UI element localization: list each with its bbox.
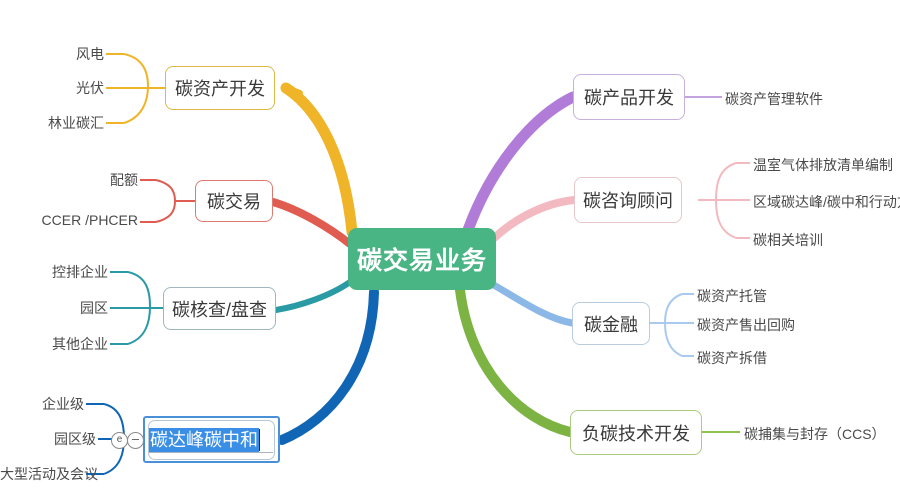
leaf-linye-tanhui[interactable]: 林业碳汇: [16, 113, 104, 133]
branch-box-carbon-trading[interactable]: 碳交易: [195, 180, 273, 222]
collapse-node-icon[interactable]: [127, 432, 144, 449]
branch-box-carbon-finance[interactable]: 碳金融: [572, 302, 650, 345]
leaf-tanzichan-chaijie[interactable]: 碳资产拆借: [697, 348, 767, 368]
branch-box-carbon-consulting[interactable]: 碳咨询顾问: [574, 177, 682, 223]
branch-label-carbon-consulting: 碳咨询顾问: [583, 187, 673, 213]
wire-negative-carbon-tech: [460, 290, 570, 432]
bracket-carbon-trading: [156, 180, 175, 222]
leaf-label-tan-bujie-fengcun: 碳捕集与封存（CCS）: [744, 426, 886, 442]
branch-label-carbon-verification: 碳核查/盘查: [172, 296, 267, 322]
leaf-qita-qiye[interactable]: 其他企业: [30, 334, 108, 354]
leaf-label-quyu-tandafeng: 区域碳达峰/碳中和行动方案: [753, 194, 900, 210]
leaf-yuanqu[interactable]: 园区: [30, 298, 108, 318]
leaf-label-peie: 配额: [110, 172, 138, 188]
leaf-guangfu[interactable]: 光伏: [26, 78, 104, 98]
leaf-label-wenshi-qiti: 温室气体排放清单编制: [753, 157, 893, 173]
wire-carbon-product-development: [468, 97, 573, 230]
wire-carbon-asset-development: [286, 88, 352, 232]
leaf-label-linye-tanhui: 林业碳汇: [48, 115, 104, 131]
leaf-qiye-ji[interactable]: 企业级: [6, 394, 84, 414]
bracket-carbon-verification: [128, 272, 150, 344]
leaf-label-guangfu: 光伏: [76, 80, 104, 96]
wire-carbon-consulting: [492, 200, 574, 240]
leaf-tan-bujie-fengcun[interactable]: 碳捕集与封存（CCS）: [744, 424, 886, 444]
branch-box-carbon-peak-neutrality[interactable]: 碳达峰碳中和: [143, 416, 280, 463]
minus-glyph: [132, 439, 139, 440]
branch-box-carbon-asset-development[interactable]: 碳资产开发: [165, 66, 275, 110]
branch-label-carbon-finance: 碳金融: [584, 311, 638, 337]
leaf-fengdian[interactable]: 风电: [26, 44, 104, 64]
branch-label-carbon-trading: 碳交易: [207, 188, 261, 214]
leaf-label-tanzichan-shouchu: 碳资产售出回购: [697, 317, 795, 333]
leaf-kongpai-qiye[interactable]: 控排企业: [30, 262, 108, 282]
leaf-peie[interactable]: 配额: [60, 170, 138, 190]
node-text-input[interactable]: 碳达峰碳中和: [149, 428, 273, 453]
branch-box-negative-carbon-tech[interactable]: 负碳技术开发: [570, 410, 702, 455]
mindmap-canvas: 碳交易业务 碳资产开发 风电 光伏 林业碳汇 碳交易 配额 CCER /PHCE…: [0, 0, 900, 489]
leaf-label-ccer-phcer: CCER /PHCER: [42, 212, 138, 228]
branch-label-negative-carbon-tech: 负碳技术开发: [582, 420, 690, 446]
bracket-carbon-finance: [665, 294, 682, 356]
bracket-carbon-consulting: [716, 163, 736, 238]
wire-carbon-peak-neutrality: [282, 292, 374, 440]
leaf-label-tan-peixun: 碳相关培训: [753, 232, 823, 248]
center-node[interactable]: 碳交易业务: [348, 228, 496, 290]
branch-label-carbon-asset-development: 碳资产开发: [175, 75, 265, 101]
edit-node-icon-glyph: e: [117, 434, 123, 445]
leaf-label-tanzichan-tuoguan: 碳资产托管: [697, 288, 767, 304]
center-node-label: 碳交易业务: [357, 241, 487, 277]
branch-label-carbon-product-development: 碳产品开发: [584, 84, 674, 110]
leaf-quyu-tandafeng[interactable]: 区域碳达峰/碳中和行动方案: [753, 192, 900, 212]
leaf-tanzichan-ruanjian[interactable]: 碳资产管理软件: [725, 89, 823, 109]
leaf-label-qita-qiye: 其他企业: [52, 336, 108, 352]
leaf-label-tanzichan-chaijie: 碳资产拆借: [697, 350, 767, 366]
bracket-carbon-asset-development: [124, 54, 148, 123]
node-text-selection: 碳达峰碳中和: [149, 428, 259, 453]
leaf-ccer-phcer[interactable]: CCER /PHCER: [28, 212, 138, 228]
wire-carbon-asset-development-taper: [286, 88, 300, 93]
leaf-tanzichan-tuoguan[interactable]: 碳资产托管: [697, 286, 767, 306]
leaf-label-daxing-huodong: 大型活动及会议: [0, 466, 98, 482]
leaf-wenshi-qiti[interactable]: 温室气体排放清单编制: [753, 155, 893, 175]
leaf-label-fengdian: 风电: [76, 46, 104, 62]
leaf-label-kongpai-qiye: 控排企业: [52, 264, 108, 280]
leaf-tan-peixun[interactable]: 碳相关培训: [753, 230, 823, 250]
branch-box-carbon-verification[interactable]: 碳核查/盘查: [163, 287, 276, 330]
leaf-label-qiye-ji: 企业级: [42, 396, 84, 412]
leaf-yuanqu-ji[interactable]: 园区级: [18, 429, 96, 449]
leaf-label-yuanqu-ji: 园区级: [54, 431, 96, 447]
leaf-daxing-huodong[interactable]: 大型活动及会议: [0, 464, 84, 484]
text-caret: [259, 429, 260, 451]
wire-carbon-trading: [273, 202, 350, 244]
wire-carbon-finance: [492, 284, 572, 323]
leaf-label-yuanqu: 园区: [80, 300, 108, 316]
edit-node-icon[interactable]: e: [111, 432, 128, 449]
branch-box-carbon-product-development[interactable]: 碳产品开发: [573, 74, 685, 120]
leaf-label-tanzichan-ruanjian: 碳资产管理软件: [725, 91, 823, 107]
leaf-tanzichan-shouchu[interactable]: 碳资产售出回购: [697, 315, 795, 335]
wire-carbon-verification: [276, 282, 350, 310]
